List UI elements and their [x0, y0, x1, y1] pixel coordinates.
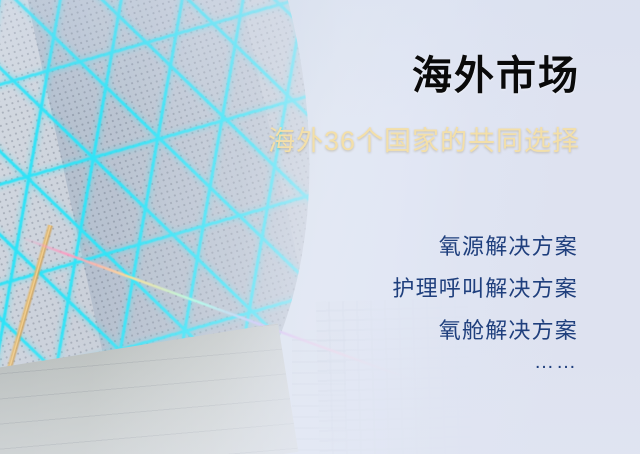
page-subtitle: 海外36个国家的共同选择 [268, 128, 580, 155]
slide-canvas: 海外市场 海外36个国家的共同选择 氧源解决方案 护理呼叫解决方案 氧舱解决方案… [0, 0, 640, 454]
list-item: 氧舱解决方案 [392, 310, 578, 352]
solution-list: 氧源解决方案 护理呼叫解决方案 氧舱解决方案 [392, 226, 578, 352]
list-ellipsis: …… [534, 352, 578, 372]
page-title: 海外市场 [412, 56, 580, 96]
list-item: 护理呼叫解决方案 [392, 268, 578, 310]
slide-content: 海外市场 海外36个国家的共同选择 氧源解决方案 护理呼叫解决方案 氧舱解决方案… [0, 0, 640, 454]
list-item: 氧源解决方案 [392, 226, 578, 268]
